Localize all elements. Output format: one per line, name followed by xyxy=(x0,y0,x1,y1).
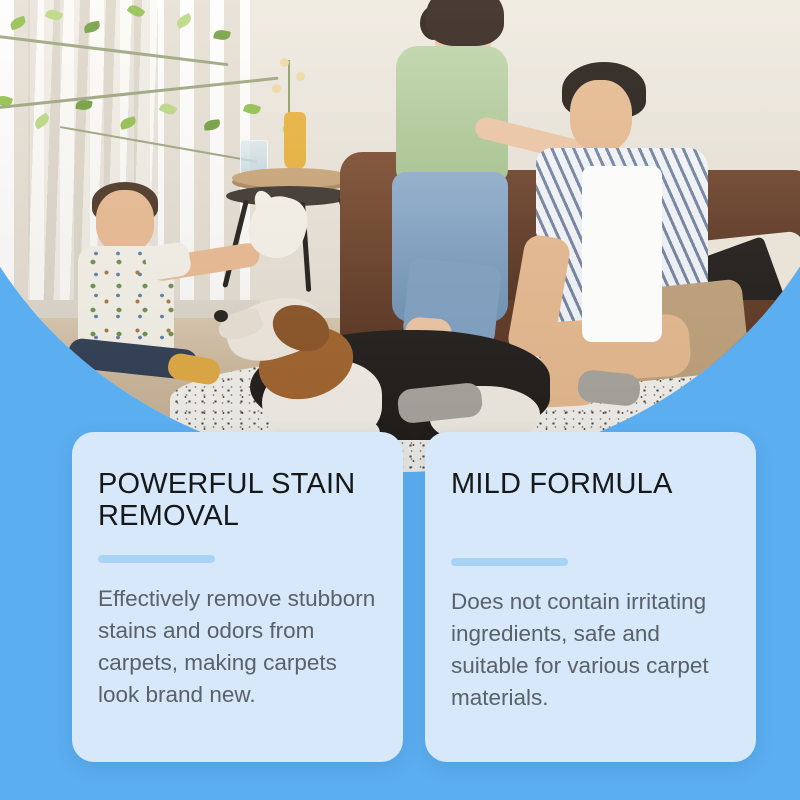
feature-card-title: MILD FORMULA xyxy=(451,468,730,500)
feature-card-body: Effectively remove stubborn stains and o… xyxy=(98,583,377,711)
man-sock xyxy=(576,369,641,407)
feature-card-title: POWERFUL STAIN REMOVAL xyxy=(98,468,377,533)
dog-nose xyxy=(214,310,228,322)
feature-card-divider xyxy=(451,558,568,566)
living-room-scene xyxy=(0,0,800,472)
feature-card-divider xyxy=(98,555,215,563)
hero-photo-ellipse-mask xyxy=(0,0,800,472)
hero-photo xyxy=(0,0,800,472)
feature-cards: POWERFUL STAIN REMOVAL Effectively remov… xyxy=(72,432,756,762)
woman-hair xyxy=(426,0,504,46)
man-white-tee xyxy=(582,166,662,342)
flower-bloom-icon xyxy=(272,84,281,93)
feature-card-mild-formula: MILD FORMULA Does not contain irritating… xyxy=(425,432,756,762)
woman-green-top xyxy=(396,46,508,182)
feature-card-powerful-stain-removal: POWERFUL STAIN REMOVAL Effectively remov… xyxy=(72,432,403,762)
flower-stem xyxy=(288,60,290,116)
flower-bloom-icon xyxy=(296,72,305,81)
product-feature-poster: POWERFUL STAIN REMOVAL Effectively remov… xyxy=(0,0,800,800)
boy-head xyxy=(96,190,154,252)
flower-bloom-icon xyxy=(280,58,289,67)
feature-card-body: Does not contain irritating ingredients,… xyxy=(451,586,730,714)
yellow-vase xyxy=(284,112,306,170)
man-head xyxy=(570,80,632,152)
side-table-top xyxy=(232,168,352,188)
